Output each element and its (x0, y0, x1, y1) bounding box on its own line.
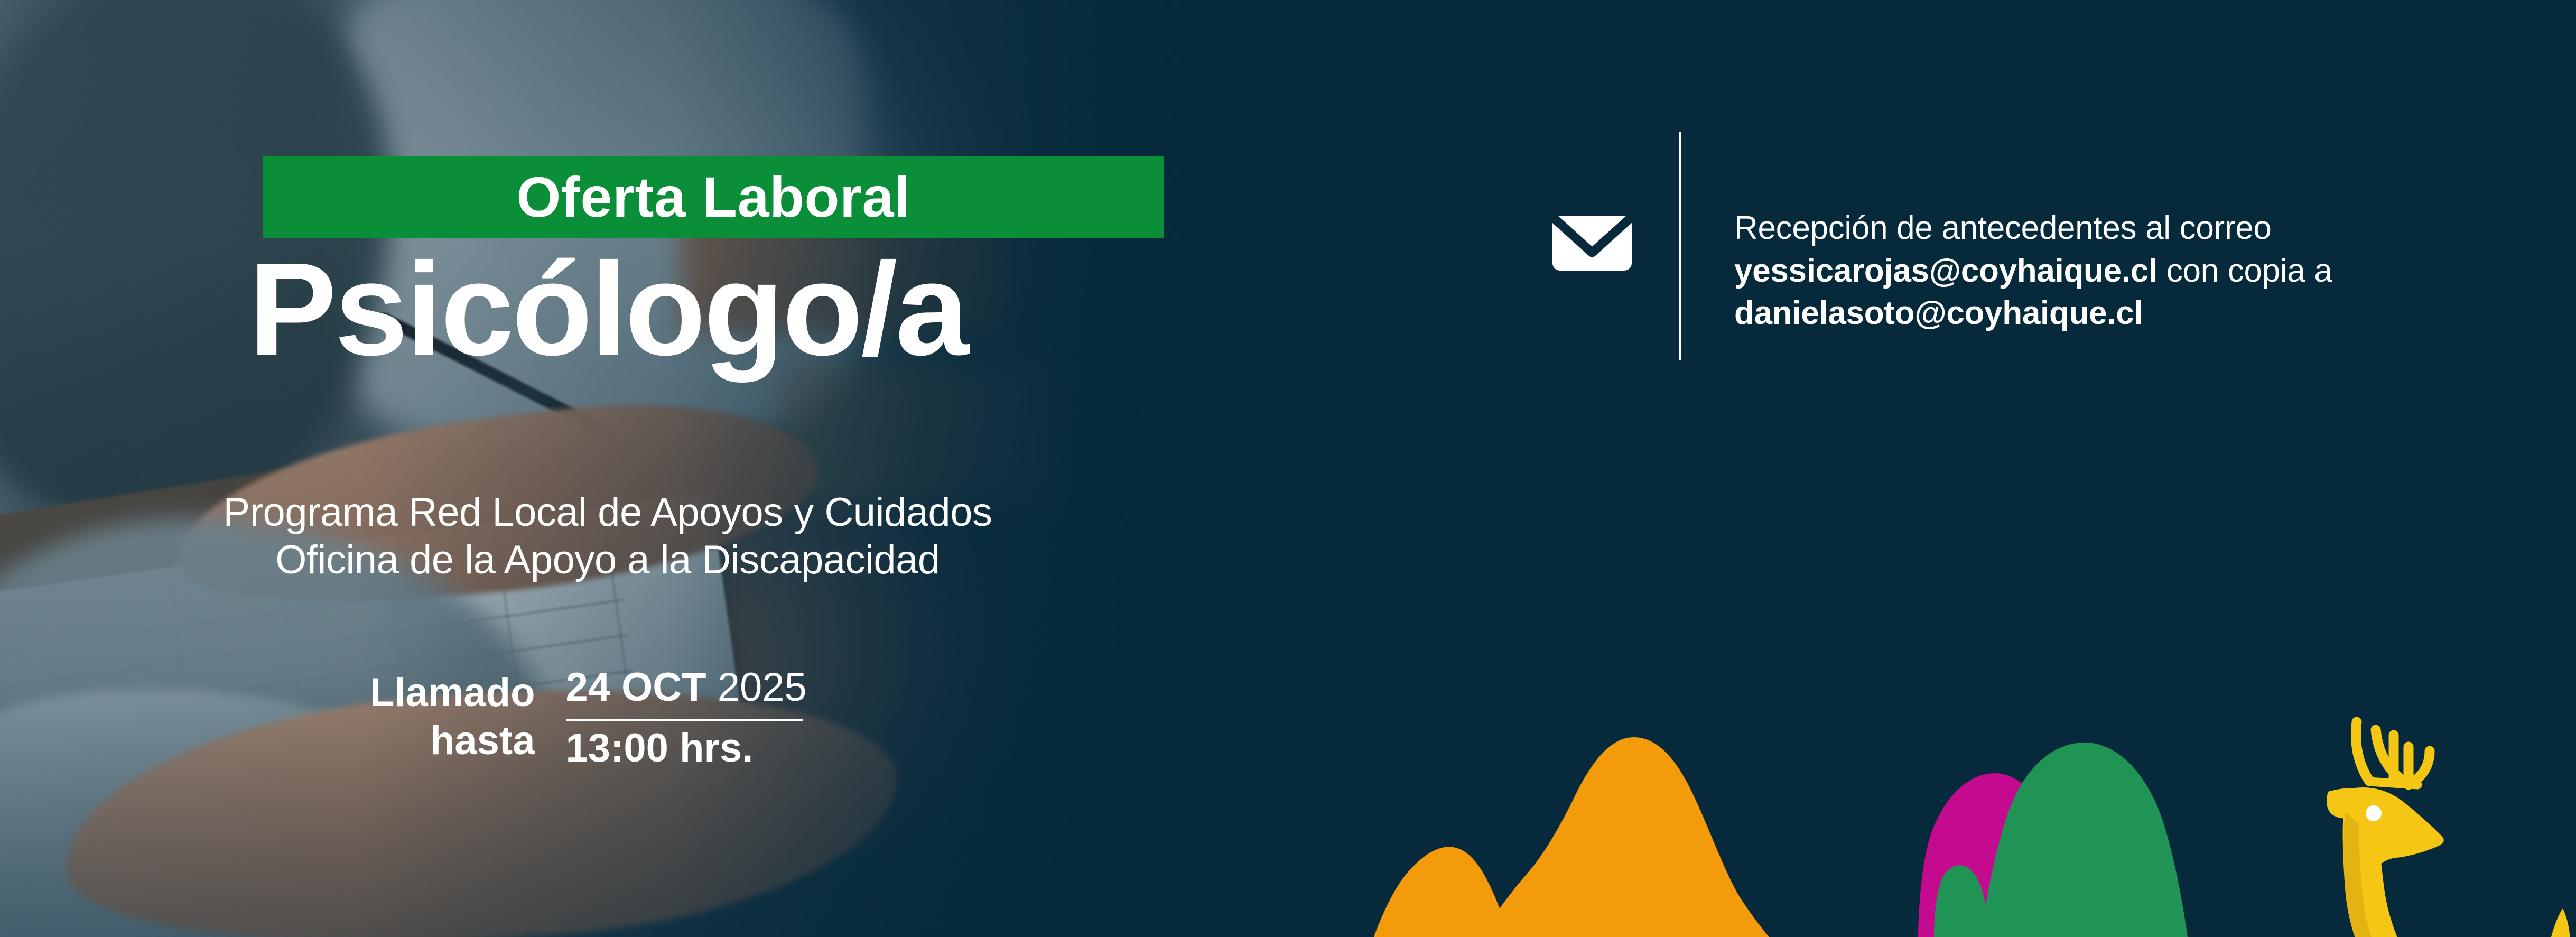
deadline-values: 24 OCT 2025 13:00 hrs. (566, 663, 807, 773)
deer-neck (2343, 812, 2421, 937)
deer-eye (2366, 805, 2382, 821)
contact-email-secondary[interactable]: danielasoto@coyhaique.cl (1734, 295, 2143, 331)
background-photo (0, 0, 1279, 937)
page-title: Psicólogo/a (0, 243, 1215, 375)
hill-orange (1374, 737, 1769, 937)
deadline-label-line-1: Llamado (370, 669, 535, 717)
contact-text: Recepción de antecedentes al correo yess… (1734, 207, 2332, 335)
subtitle-line-1: Programa Red Local de Apoyos y Cuidados (0, 489, 1215, 536)
deadline-year (706, 665, 718, 710)
subtitle-line-2: Oficina de la Apoyo a la Discapacidad (0, 536, 1215, 584)
deer-ear (2327, 788, 2375, 818)
decorative-landscape (1374, 599, 2576, 937)
deer-tail (2547, 908, 2571, 937)
offer-badge: Oferta Laboral (263, 156, 1164, 238)
envelope-icon (1552, 211, 1632, 275)
deadline-time: 13:00 hrs. (566, 724, 807, 773)
job-offer-banner: Oferta Laboral Psicólogo/a Programa Red … (0, 0, 2576, 937)
deadline-block: Llamado hasta 24 OCT 2025 13:00 hrs. (370, 663, 807, 773)
contact-email-primary[interactable]: yessicarojas@coyhaique.cl (1734, 253, 2157, 289)
deadline-label: Llamado hasta (370, 663, 535, 765)
offer-badge-label: Oferta Laboral (516, 169, 910, 226)
deer-icon (2327, 722, 2576, 937)
contact-email-secondary-line: danielasoto@coyhaique.cl (1734, 292, 2332, 335)
subtitle-block: Programa Red Local de Apoyos y Cuidados … (0, 489, 1215, 585)
contact-divider (1679, 132, 1681, 360)
hill-green (1934, 743, 2188, 937)
contact-email-primary-line: yessicarojas@coyhaique.cl con copia a (1734, 250, 2332, 293)
deadline-year-value: 2025 (718, 665, 807, 710)
contact-intro: Recepción de antecedentes al correo (1734, 207, 2332, 250)
deadline-divider (566, 719, 803, 721)
deadline-label-line-2: hasta (370, 717, 535, 765)
deadline-day-month: 24 OCT (566, 665, 706, 710)
photo-gradient-overlay (0, 0, 1279, 937)
contact-between-text: con copia a (2157, 253, 2332, 289)
deer-head (2343, 787, 2444, 888)
deadline-date: 24 OCT 2025 (566, 663, 807, 717)
hill-magenta (1918, 773, 2067, 937)
contact-block: Recepción de antecedentes al correo yess… (1679, 132, 2332, 360)
